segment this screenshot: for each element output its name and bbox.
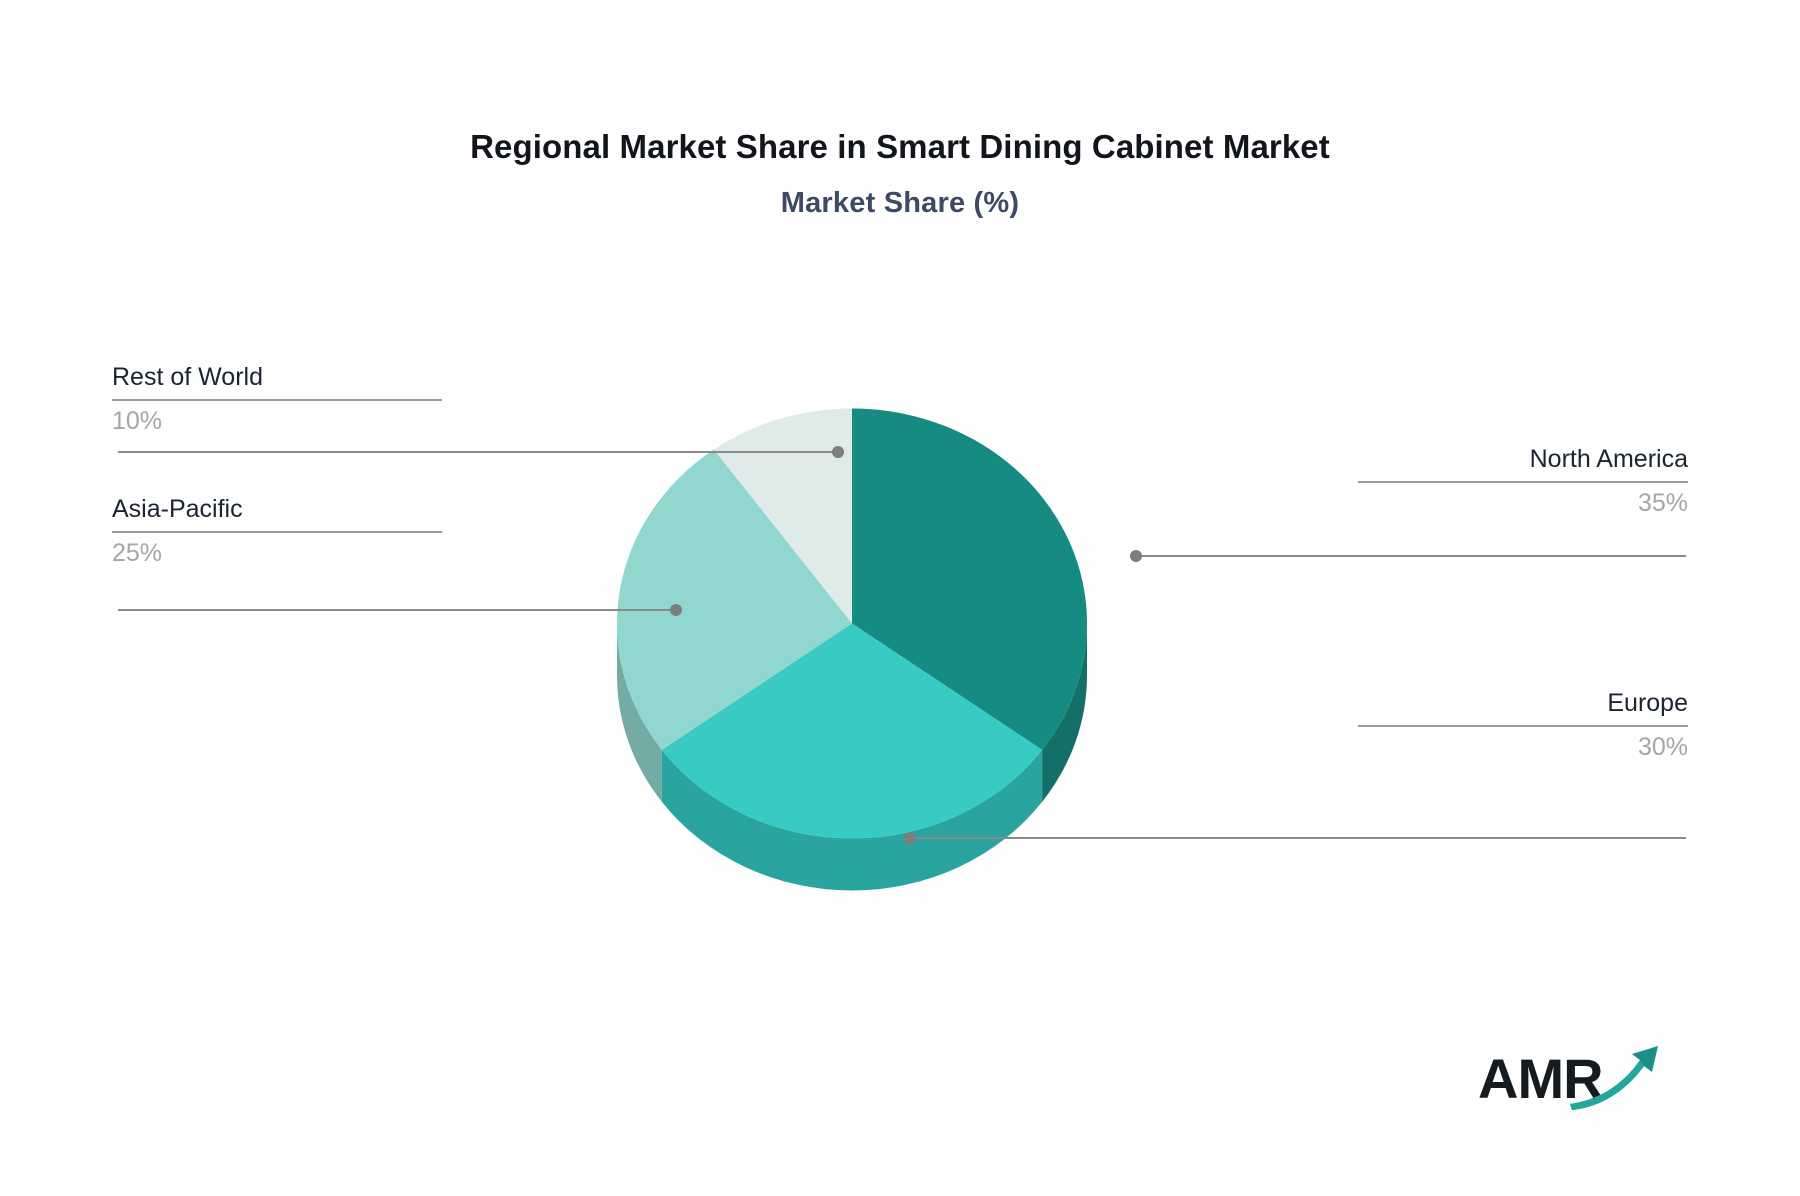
callout-north-america[interactable]: North America 35% bbox=[1358, 442, 1688, 520]
callout-rule bbox=[112, 399, 442, 401]
callout-value: 25% bbox=[112, 536, 442, 570]
callout-label: Asia-Pacific bbox=[112, 492, 442, 526]
amr-logo: AMR bbox=[1478, 1040, 1678, 1118]
chart-canvas: Regional Market Share in Smart Dining Ca… bbox=[0, 0, 1800, 1196]
pie-chart bbox=[550, 340, 1250, 960]
callout-label: Europe bbox=[1358, 686, 1688, 720]
page-title: Regional Market Share in Smart Dining Ca… bbox=[0, 128, 1800, 166]
callout-rest-of-world[interactable]: Rest of World 10% bbox=[112, 360, 442, 438]
pie-top-face bbox=[617, 409, 1087, 839]
callout-rule bbox=[1358, 481, 1688, 483]
callout-label: Rest of World bbox=[112, 360, 442, 394]
callout-value: 10% bbox=[112, 404, 442, 438]
callout-label: North America bbox=[1358, 442, 1688, 476]
callout-europe[interactable]: Europe 30% bbox=[1358, 686, 1688, 764]
growth-arrow-icon bbox=[1566, 1044, 1678, 1116]
callout-rule bbox=[112, 531, 442, 533]
callout-asia-pacific[interactable]: Asia-Pacific 25% bbox=[112, 492, 442, 570]
callout-value: 35% bbox=[1358, 486, 1688, 520]
callout-rule bbox=[1358, 725, 1688, 727]
chart-subtitle: Market Share (%) bbox=[0, 187, 1800, 220]
callout-value: 30% bbox=[1358, 730, 1688, 764]
